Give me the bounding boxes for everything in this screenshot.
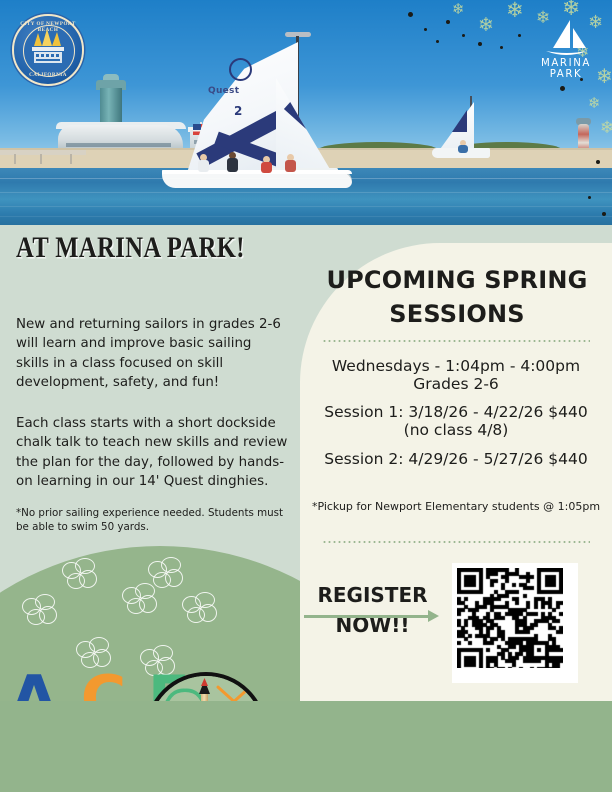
sail-emblem-icon [229,58,252,81]
sail-stripe [452,110,467,132]
divider-bottom [322,541,590,543]
seal-text-bottom: CALIFORNIA [14,72,82,78]
window-band [66,143,171,147]
flower-decoration [182,592,216,622]
dock [0,150,86,155]
seal-text-top: CITY OF NEWPORT BEACH [14,21,82,33]
hull-gunwale [162,170,352,174]
register-line-1: REGISTER [305,580,440,610]
page-title: AT MARINA PARK! [16,231,245,265]
arrow-icon [304,615,432,618]
marina-park-label: MARINA PARK [523,58,609,80]
session-1-note: (no class 4/8) [306,421,606,439]
flower-decoration [148,557,182,587]
city-of-newport-beach-seal: CITY OF NEWPORT BEACH CALIFORNIA [12,14,84,86]
session-1-dates: Session 1: 3/18/26 - 4/22/26 $440 [306,403,606,421]
pickup-note: *Pickup for Newport Elementary students … [306,500,606,513]
session-2-dates: Session 2: 4/29/26 - 5/27/26 $440 [306,450,606,468]
divider-top [322,340,590,342]
register-callout: REGISTER NOW!! [305,580,440,640]
contact-footer: (949)-270-8160 boating@newportbeachca.go… [0,701,612,792]
prerequisite-note: *No prior sailing experience needed. Stu… [16,506,284,534]
sail-number: 2 [234,104,242,118]
registration-qr-code[interactable] [452,563,578,683]
sessions-title: UPCOMING SPRING SESSIONS [326,263,588,331]
marina-park-logo: MARINA PARK [523,18,609,80]
description-paragraph-1: New and returning sailors in grades 2-6 … [16,315,288,392]
primary-sailboat: Quest 2 [172,30,332,175]
arrow-head-icon [428,610,439,622]
flyer-page: Quest 2 [0,0,612,792]
session-1-block: Session 1: 3/18/26 - 4/22/26 $440 (no cl… [306,403,606,440]
hero-photo: Quest 2 [0,0,612,225]
secondary-sailboat [430,96,500,158]
schedule-days-time: Wednesdays - 1:04pm - 4:00pm [306,357,606,375]
flower-decoration [22,594,56,624]
description-paragraph-2: Each class starts with a short dockside … [16,414,288,491]
schedule-grades: Grades 2-6 [306,375,606,393]
sail-brand-text: Quest [208,86,239,96]
schedule-block: Wednesdays - 1:04pm - 4:00pm Grades 2-6 [306,357,606,394]
flower-decoration [62,558,96,588]
flower-decoration [122,583,156,613]
